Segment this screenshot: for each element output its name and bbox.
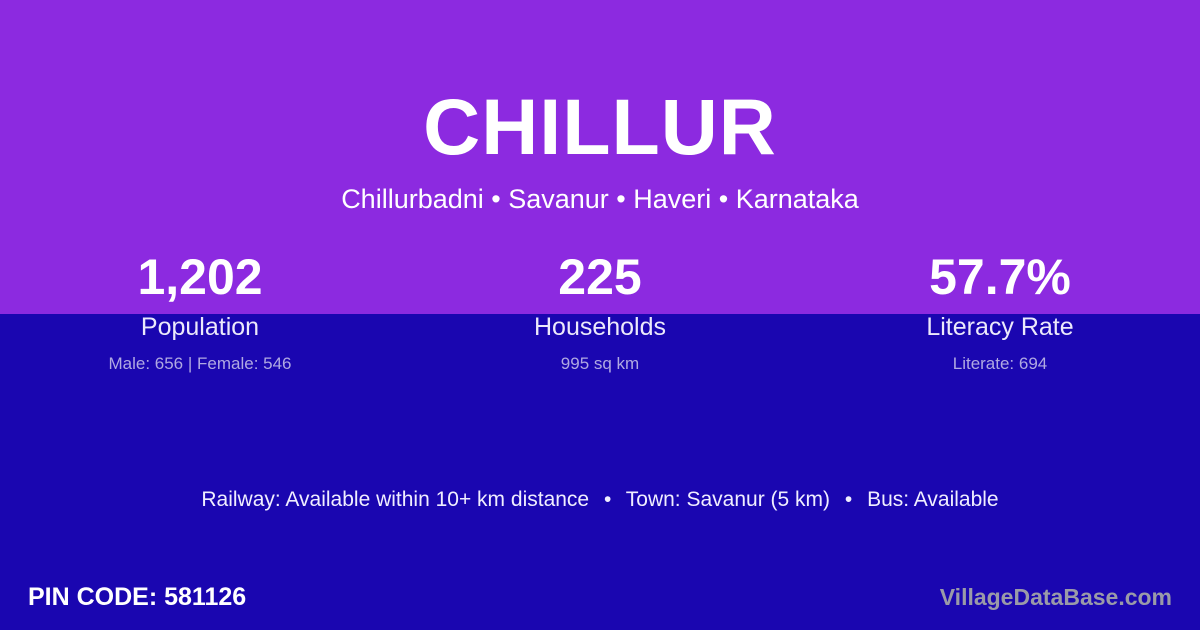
footer: PIN CODE: 581126 VillageDataBase.com <box>0 564 1200 630</box>
pin-code: PIN CODE: 581126 <box>28 582 246 612</box>
page-title: CHILLUR <box>0 79 1200 175</box>
village-info-card: CHILLUR Chillurbadni • Savanur • Haveri … <box>0 0 1200 630</box>
stat-households-value: 225 <box>400 246 800 308</box>
breadcrumb: Chillurbadni • Savanur • Haveri • Karnat… <box>0 182 1200 216</box>
stat-population-label: Population <box>0 310 400 344</box>
infra-separator-1: • <box>595 488 620 511</box>
infra-bus: Bus: Available <box>867 488 999 511</box>
infra-railway: Railway: Available within 10+ km distanc… <box>201 488 589 511</box>
stat-population-sub: Male: 656 | Female: 546 <box>0 352 400 376</box>
stat-population-value: 1,202 <box>0 246 400 308</box>
stat-literacy-sub: Literate: 694 <box>800 352 1200 376</box>
stat-households-sub: 995 sq km <box>400 352 800 376</box>
infrastructure-row: Railway: Available within 10+ km distanc… <box>0 486 1200 514</box>
stat-population: 1,202 Population Male: 656 | Female: 546 <box>0 246 400 376</box>
infra-separator-2: • <box>836 488 861 511</box>
stat-households: 225 Households 995 sq km <box>400 246 800 376</box>
brand-watermark: VillageDataBase.com <box>940 583 1172 611</box>
stat-literacy: 57.7% Literacy Rate Literate: 694 <box>800 246 1200 376</box>
stat-literacy-label: Literacy Rate <box>800 310 1200 344</box>
stat-literacy-value: 57.7% <box>800 246 1200 308</box>
stats-row: 1,202 Population Male: 656 | Female: 546… <box>0 246 1200 376</box>
stat-households-label: Households <box>400 310 800 344</box>
infra-town: Town: Savanur (5 km) <box>626 488 830 511</box>
